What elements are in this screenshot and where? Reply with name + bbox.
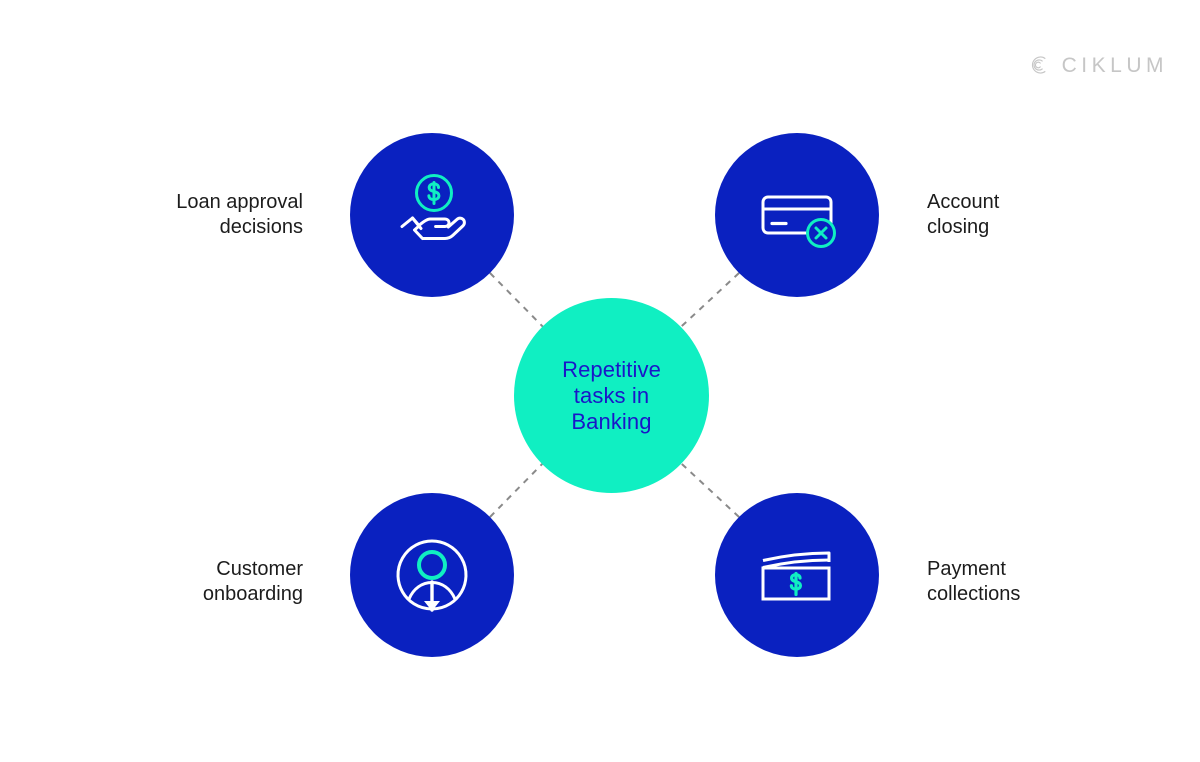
hand-holding-dollar-coin-icon	[380, 163, 484, 267]
credit-card-close-icon	[745, 163, 849, 267]
node-customer-onboarding[interactable]	[350, 493, 514, 657]
label-loan-approval-decisions: Loan approval decisions	[110, 190, 303, 240]
node-account-closing[interactable]	[715, 133, 879, 297]
node-loan-approval-decisions[interactable]	[350, 133, 514, 297]
label-payment-collections: Payment collections	[927, 557, 1147, 607]
diagram-canvas: CIKLUM	[0, 0, 1200, 762]
user-download-arrow-icon	[380, 523, 484, 627]
banknotes-dollar-icon	[745, 523, 849, 627]
node-payment-collections[interactable]	[715, 493, 879, 657]
hub-circle[interactable]: Repetitive tasks in Banking	[514, 298, 709, 493]
label-customer-onboarding: Customer onboarding	[110, 557, 303, 607]
hub-label: Repetitive tasks in Banking	[562, 357, 661, 435]
label-account-closing: Account closing	[927, 190, 1147, 240]
